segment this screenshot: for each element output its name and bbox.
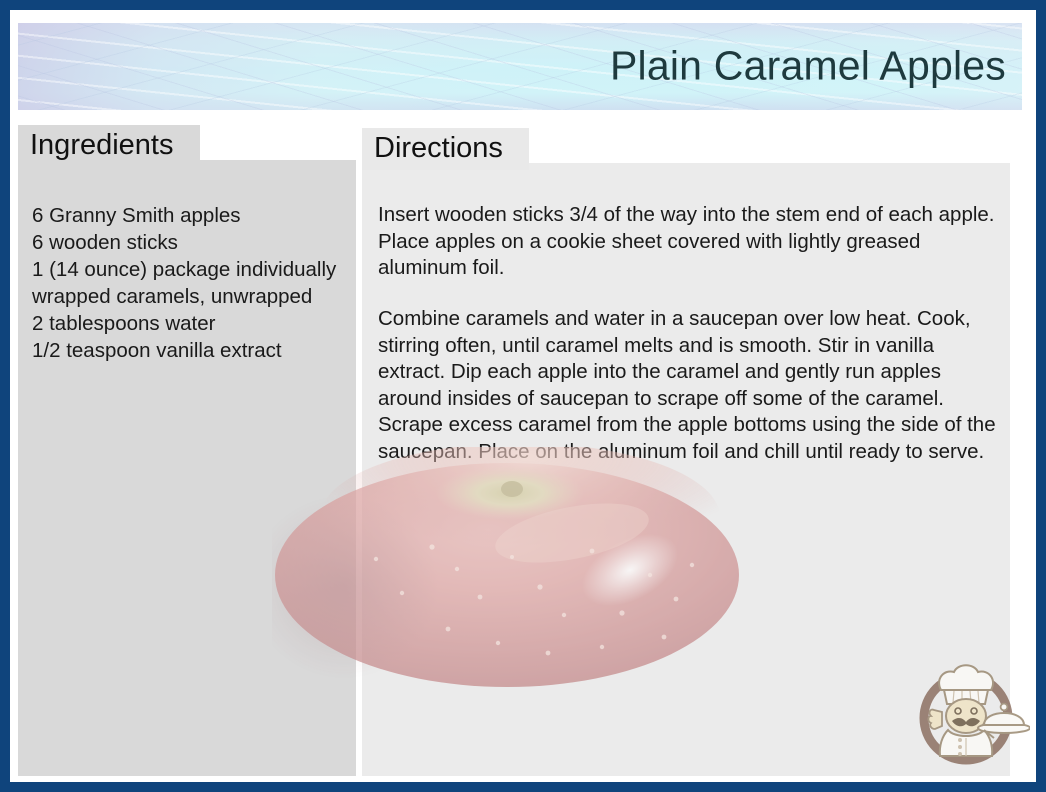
- ingredients-tab-header: Ingredients: [18, 125, 200, 167]
- ingredients-list: 6 Granny Smith apples 6 wooden sticks 1 …: [32, 202, 352, 364]
- directions-panel: Insert wooden sticks 3/4 of the way into…: [362, 163, 1010, 776]
- slide-content-area: Plain Caramel Apples Ingredients 6 Grann…: [10, 10, 1036, 782]
- ingredients-panel: 6 Granny Smith apples 6 wooden sticks 1 …: [18, 160, 356, 776]
- page-title: Plain Caramel Apples: [610, 45, 1006, 86]
- list-item: 1/2 teaspoon vanilla extract: [32, 337, 352, 364]
- list-item: 2 tablespoons water: [32, 310, 352, 337]
- directions-text: Insert wooden sticks 3/4 of the way into…: [378, 202, 1006, 466]
- directions-paragraph: Combine caramels and water in a saucepan…: [378, 306, 1006, 466]
- recipe-slide: Plain Caramel Apples Ingredients 6 Grann…: [0, 0, 1046, 792]
- list-item: 6 wooden sticks: [32, 229, 352, 256]
- list-item: 6 Granny Smith apples: [32, 202, 352, 229]
- directions-tab-header: Directions: [362, 128, 529, 170]
- directions-paragraph: Insert wooden sticks 3/4 of the way into…: [378, 202, 1006, 282]
- list-item: 1 (14 ounce) package individually wrappe…: [32, 256, 352, 310]
- title-banner: Plain Caramel Apples: [18, 23, 1022, 110]
